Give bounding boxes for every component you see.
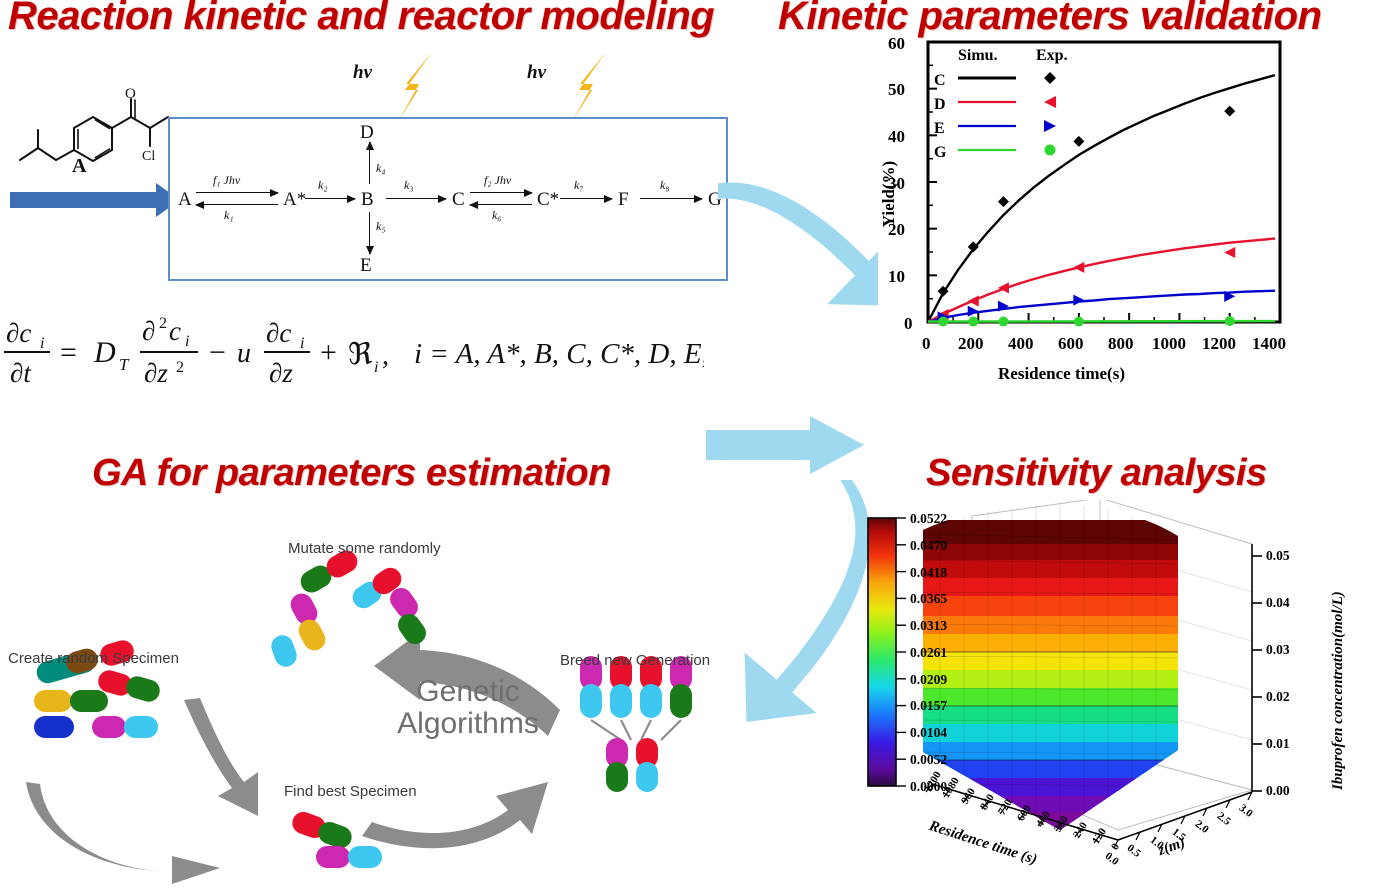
molecule-structure-ibuprofen-precursor: O Cl: [14, 86, 174, 196]
ytick-40: 40: [888, 127, 905, 147]
rate-f1-Jhv: f₁ Jhv: [213, 173, 240, 188]
chart-line-D: [928, 239, 1275, 323]
photon-label-2: hv: [527, 62, 546, 84]
svg-text:,: ,: [382, 340, 389, 371]
chart-point-E-3: [1073, 295, 1084, 306]
rate-f2-Jhv: f₂ Jhv: [484, 173, 511, 188]
rate-k4: k₄: [376, 161, 386, 176]
rate-k7: k₇: [574, 178, 584, 193]
legend-label-C: C: [934, 72, 946, 90]
ga-label-findbest: Find best Specimen: [284, 783, 417, 800]
svg-text:∂c: ∂c: [6, 318, 31, 348]
svg-text:=: =: [60, 336, 77, 369]
ytick-60: 60: [888, 34, 905, 54]
flow-arrow-center: [706, 414, 866, 476]
surface-ztick-2: 0.03: [1266, 642, 1290, 658]
arrow-Cstar-to-F: [560, 198, 612, 199]
ga-cycle-arrows: [26, 632, 560, 884]
surface-z-axis-label: Ibuprofen concentration(mol/L): [1330, 591, 1347, 790]
chart-point-G-0: [938, 317, 948, 327]
chart-point-G-4: [1225, 316, 1235, 326]
arrow-F-to-G: [640, 198, 702, 199]
svg-text:u: u: [237, 338, 251, 369]
svg-text:∂: ∂: [142, 316, 155, 346]
xtick-200: 200: [958, 334, 984, 354]
surface-ztick-4: 0.01: [1266, 736, 1290, 752]
xtick-600: 600: [1058, 334, 1084, 354]
colorbar-tick-1: 0.0470: [910, 538, 947, 554]
arrow-Cstar-to-C: [470, 204, 532, 205]
chart-y-axis-label: Yield(%): [879, 161, 899, 227]
ytick-10: 10: [888, 267, 905, 287]
section-title-sensitivity: Sensitivity analysis: [926, 452, 1267, 495]
pde-equation: ∂c i ∂t = D T ∂ 2 c i ∂z 2 − u ∂c i ∂z +…: [4, 306, 704, 398]
svg-text:i: i: [40, 335, 44, 352]
ga-group-breed: [580, 656, 692, 792]
legend-label-D: D: [934, 96, 946, 114]
svg-text:i: i: [300, 335, 304, 352]
legend-header-simu: Simu.: [958, 47, 998, 65]
svg-text:i: i: [185, 333, 189, 350]
species-F: F: [618, 189, 629, 211]
arrow-B-to-E: [369, 212, 370, 254]
colorbar-tick-4: 0.0313: [910, 618, 947, 634]
legend-header-exp: Exp.: [1036, 47, 1068, 65]
colorbar-tick-9: 0.0052: [910, 752, 947, 768]
chart-line-C: [928, 75, 1275, 322]
chart-point-D-3: [1073, 262, 1084, 273]
svg-text:2: 2: [159, 315, 167, 332]
rate-k1: k₁: [224, 208, 234, 223]
chart-point-C-3: [1073, 136, 1084, 147]
arrow-Astar-to-A: [196, 204, 278, 205]
colorbar: [868, 518, 896, 786]
surface-ztick-0: 0.05: [1266, 548, 1290, 564]
chart-point-G-1: [968, 317, 978, 327]
legend-label-G: G: [934, 144, 946, 162]
xtick-800: 800: [1108, 334, 1134, 354]
colorbar-tick-3: 0.0365: [910, 591, 947, 607]
flow-arrow-reaction-to-validation: [718, 128, 878, 368]
photon-bolt-icon-1: [388, 50, 440, 126]
ga-center-title: Genetic Algorithms: [378, 676, 558, 740]
arrow-Astar-to-B: [305, 198, 355, 199]
svg-text:2: 2: [176, 359, 184, 376]
arrow-C-to-Cstar: [470, 192, 532, 193]
species-B: B: [361, 189, 374, 211]
arrow-B-to-C: [386, 198, 446, 199]
chart-point-D-4: [1224, 247, 1235, 258]
surface-ztick-5: 0.00: [1266, 783, 1290, 799]
molecule-atom-oxygen: O: [125, 86, 136, 102]
ga-label-create: Create random Specimen: [8, 650, 179, 667]
rate-k6: k₆: [492, 208, 502, 223]
species-A-star: A*: [283, 189, 306, 211]
section-title-reaction: Reaction kinetic and reactor modeling: [8, 0, 714, 39]
chart-point-C-2: [998, 196, 1009, 207]
pde-species-list: i = A, A*, B, C, C*, D, E, F, G: [414, 338, 704, 370]
ga-label-mutate: Mutate some randomly: [288, 540, 441, 557]
ytick-0: 0: [904, 314, 913, 334]
rate-k2: k₂: [318, 178, 328, 193]
sensitivity-surface-plot: 0.0522 0.0470 0.0418 0.0365 0.0313 0.026…: [860, 500, 1375, 886]
chart-point-G-2: [998, 317, 1008, 327]
xtick-1400: 1400: [1252, 334, 1286, 354]
svg-text:−: −: [209, 336, 226, 369]
rate-k5: k₅: [376, 219, 386, 234]
species-C-star: C*: [537, 189, 559, 211]
xtick-1000: 1000: [1152, 334, 1186, 354]
legend-label-E: E: [934, 120, 945, 138]
ytick-50: 50: [888, 80, 905, 100]
inlet-species-label: A: [72, 155, 86, 178]
svg-text:i: i: [374, 359, 378, 376]
ga-center-line-1: Genetic: [378, 676, 558, 708]
validation-chart: 60 50 40 30 20 10 0 0 200 400 600 800 10…: [880, 34, 1360, 404]
ga-center-line-2: Algorithms: [378, 708, 558, 740]
chart-point-G-3: [1074, 317, 1084, 327]
molecule-atom-chlorine: Cl: [142, 149, 155, 164]
xtick-0: 0: [922, 334, 931, 354]
chart-plot-frame: [928, 42, 1280, 322]
svg-text:c: c: [169, 316, 181, 346]
xtick-1200: 1200: [1202, 334, 1236, 354]
svg-text:T: T: [119, 355, 130, 374]
colorbar-tick-7: 0.0157: [910, 698, 947, 714]
rate-k8: k₈: [660, 178, 670, 193]
reaction-scheme-box: [168, 117, 728, 281]
svg-text:∂z: ∂z: [269, 358, 293, 388]
svg-text:ℜ: ℜ: [348, 338, 373, 371]
species-E: E: [360, 255, 372, 277]
rate-k3: k₃: [404, 178, 414, 193]
svg-text:∂z: ∂z: [144, 358, 168, 388]
surface-ztick-3: 0.02: [1266, 689, 1290, 705]
arrow-B-to-D: [369, 142, 370, 184]
colorbar-tick-6: 0.0209: [910, 672, 947, 688]
surface-z-axis: [1252, 544, 1262, 792]
colorbar-tick-2: 0.0418: [910, 565, 947, 581]
chart-point-D-1: [968, 296, 979, 307]
chart-x-axis-label: Residence time(s): [998, 364, 1125, 384]
species-C: C: [452, 189, 465, 211]
colorbar-tick-8: 0.0104: [910, 725, 947, 741]
svg-text:∂t: ∂t: [10, 358, 32, 388]
colorbar-ticks: [896, 518, 906, 786]
colorbar-tick-5: 0.0261: [910, 645, 947, 661]
ga-group-find-best: [289, 809, 382, 868]
ga-label-breed: Breed new Generation: [560, 652, 710, 669]
chart-point-C-4: [1224, 106, 1235, 117]
species-A: A: [178, 189, 192, 211]
svg-text:∂c: ∂c: [266, 318, 291, 348]
svg-text:+: +: [320, 336, 337, 369]
surface-ztick-1: 0.04: [1266, 595, 1290, 611]
svg-text:D: D: [93, 336, 116, 369]
section-title-ga: GA for parameters estimation: [92, 452, 611, 495]
chart-point-D-2: [998, 282, 1009, 293]
colorbar-tick-0: 0.0522: [910, 511, 947, 527]
inlet-flow-arrow: [10, 192, 158, 208]
chart-line-E: [928, 291, 1275, 322]
xtick-400: 400: [1008, 334, 1034, 354]
photon-bolt-icon-2: [562, 50, 614, 126]
photon-label-1: hv: [353, 62, 372, 84]
chart-point-E-1: [968, 306, 979, 317]
arrow-A-to-Astar: [196, 192, 278, 193]
